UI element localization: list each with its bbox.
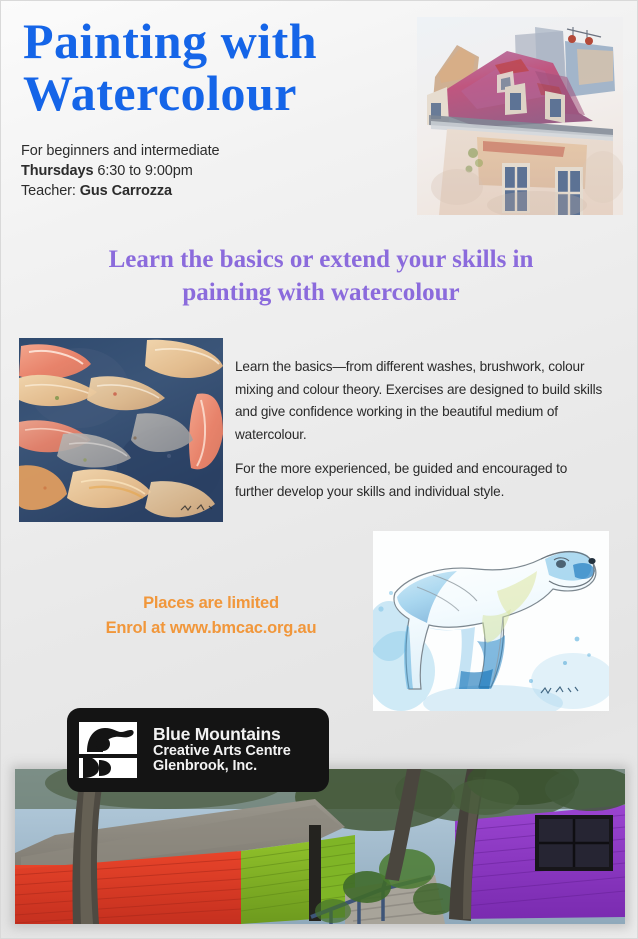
- logo-line-3: Glenbrook, Inc.: [153, 759, 291, 775]
- photo-banner-buildings: [15, 769, 625, 924]
- enrolment-limited-text: Places are limited: [61, 591, 361, 616]
- watercolour-polar-bear-illustration: [373, 531, 609, 711]
- organisation-logo: Blue Mountains Creative Arts Centre Glen…: [67, 708, 329, 792]
- description-paragraph-1: Learn the basics—from different washes, …: [235, 356, 607, 446]
- title-line-2: Watercolour: [23, 67, 413, 119]
- organisation-logo-text: Blue Mountains Creative Arts Centre Glen…: [153, 725, 291, 775]
- colourful-buildings-photo: [15, 769, 625, 924]
- poster-canvas: Painting with Watercolour For beginners …: [0, 0, 638, 939]
- course-description: Learn the basics—from different washes, …: [235, 356, 607, 503]
- detail-teacher: Teacher: Gus Carrozza: [21, 181, 220, 201]
- watercolour-building-illustration: [417, 17, 623, 215]
- subhead-line-1: Learn the basics or extend your skills i…: [109, 246, 534, 273]
- poster-title-block: Painting with Watercolour: [23, 15, 413, 119]
- detail-schedule: Thursdays 6:30 to 9:00pm: [21, 161, 220, 181]
- detail-teacher-label: Teacher:: [21, 183, 80, 199]
- title-line-1: Painting with: [23, 13, 317, 69]
- enrolment-callout: Places are limited Enrol at www.bmcac.or…: [61, 591, 361, 641]
- artwork-leaves-image: [19, 338, 223, 522]
- detail-schedule-day: Thursdays: [21, 163, 93, 179]
- detail-schedule-time: 6:30 to 9:00pm: [93, 163, 192, 179]
- artwork-polar-bear-image: [373, 531, 609, 711]
- bmcac-logo-mark-icon: [77, 718, 141, 782]
- logo-line-2: Creative Arts Centre: [153, 744, 291, 760]
- detail-audience: For beginners and intermediate: [21, 141, 220, 161]
- detail-teacher-name: Gus Carrozza: [80, 183, 172, 199]
- logo-line-1: Blue Mountains: [153, 725, 291, 744]
- enrolment-website-text[interactable]: Enrol at www.bmcac.org.au: [61, 616, 361, 641]
- poster-subheadline: Learn the basics or extend your skills i…: [41, 243, 601, 309]
- subhead-line-2: painting with watercolour: [41, 276, 601, 309]
- artwork-building-image: [417, 17, 623, 215]
- description-paragraph-2: For the more experienced, be guided and …: [235, 458, 607, 503]
- watercolour-leaves-illustration: [19, 338, 223, 522]
- page-title: Painting with Watercolour: [23, 15, 413, 119]
- course-details: For beginners and intermediate Thursdays…: [21, 141, 220, 201]
